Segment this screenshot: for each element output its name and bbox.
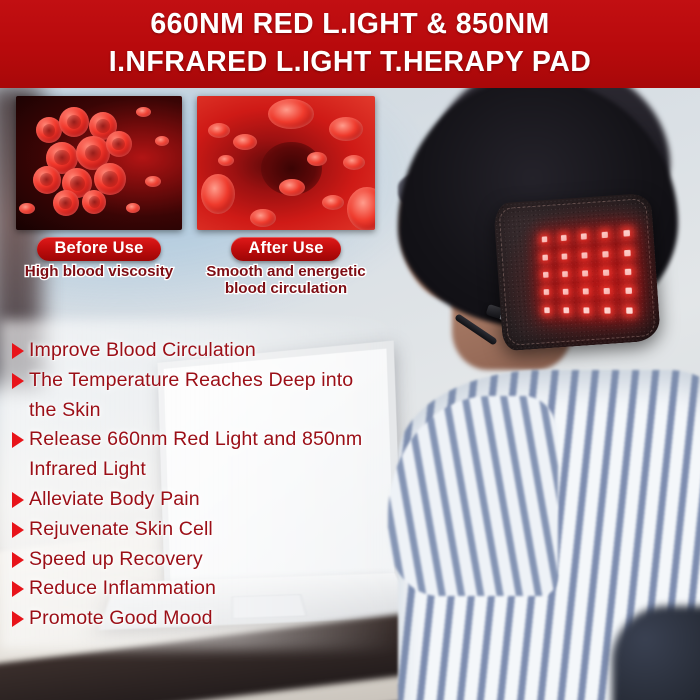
neck-therapy-pad: [493, 193, 661, 352]
before-use-badge: Before Use: [37, 237, 160, 261]
after-use-caption-line-1: Smooth and energetic: [197, 263, 375, 280]
led-light: [604, 288, 610, 294]
benefit-item: Alleviate Body Pain: [12, 485, 392, 514]
led-light: [543, 290, 549, 296]
benefit-item: Rejuvenate Skin Cell: [12, 515, 392, 544]
before-after-comparison: Before Use High blood viscosity: [0, 96, 390, 296]
led-light: [602, 251, 608, 257]
benefit-label: Reduce Inflammation: [29, 574, 216, 603]
banner-title-line-1: 660NM RED L.IGHT & 850NM: [150, 6, 549, 44]
led-light: [626, 288, 633, 294]
benefit-label: Promote Good Mood: [29, 604, 213, 633]
benefit-item: The Temperature Reaches Deep into: [12, 366, 392, 395]
benefit-label: Infrared Light: [29, 455, 146, 484]
led-light: [624, 249, 631, 256]
led-light: [543, 272, 549, 278]
before-use-caption: High blood viscosity: [16, 263, 182, 280]
led-light: [581, 252, 587, 258]
led-light: [583, 307, 589, 313]
banner-title-line-2: I.NFRARED L.IGHT T.HERAPY PAD: [109, 44, 591, 82]
led-light: [562, 271, 568, 277]
led-light: [542, 254, 548, 260]
led-light: [603, 269, 609, 275]
benefit-label: Release 660nm Red Light and 850nm: [29, 425, 362, 454]
benefit-item: Speed up Recovery: [12, 545, 392, 574]
led-light: [624, 230, 631, 237]
triangle-bullet-icon: [12, 373, 24, 389]
benefit-label: Improve Blood Circulation: [29, 336, 256, 365]
benefit-label: Speed up Recovery: [29, 545, 203, 574]
benefit-label: Rejuvenate Skin Cell: [29, 515, 213, 544]
benefit-item: Promote Good Mood: [12, 604, 392, 633]
after-blood-image: [197, 96, 375, 230]
triangle-bullet-icon: [12, 522, 24, 538]
led-light: [582, 270, 588, 276]
before-blood-image: [16, 96, 182, 230]
benefits-list: Improve Blood Circulation The Temperatur…: [12, 336, 392, 634]
led-light: [583, 289, 589, 295]
led-light: [602, 232, 608, 239]
triangle-bullet-icon: [12, 552, 24, 568]
led-light: [563, 307, 569, 313]
led-light: [581, 233, 587, 239]
led-light: [544, 307, 550, 313]
led-light: [625, 269, 632, 275]
benefit-item: Reduce Inflammation: [12, 574, 392, 603]
triangle-bullet-icon: [12, 492, 24, 508]
led-light: [604, 307, 610, 313]
benefit-item: Improve Blood Circulation: [12, 336, 392, 365]
before-use-block: Before Use High blood viscosity: [16, 96, 182, 280]
led-light: [561, 253, 567, 259]
after-use-caption-line-2: blood circulation: [197, 280, 375, 297]
led-light: [563, 289, 569, 295]
triangle-bullet-icon: [12, 581, 24, 597]
triangle-bullet-icon: [12, 611, 24, 627]
led-light-grid: [534, 223, 641, 320]
product-marketing-image: 660NM RED L.IGHT & 850NM I.NFRARED L.IGH…: [0, 0, 700, 700]
benefit-label: the Skin: [29, 396, 101, 425]
benefit-label: Alleviate Body Pain: [29, 485, 200, 514]
triangle-bullet-icon: [12, 343, 24, 359]
benefit-item-continuation: the Skin: [12, 396, 392, 425]
benefit-item: Release 660nm Red Light and 850nm: [12, 425, 392, 454]
triangle-bullet-icon: [12, 432, 24, 448]
led-light: [541, 237, 547, 243]
benefit-label: The Temperature Reaches Deep into: [29, 366, 353, 395]
led-light: [626, 307, 633, 313]
after-use-badge: After Use: [231, 237, 340, 261]
after-use-block: After Use Smooth and energetic blood cir…: [197, 96, 375, 297]
benefit-item-continuation: Infrared Light: [12, 455, 392, 484]
title-banner: 660NM RED L.IGHT & 850NM I.NFRARED L.IGH…: [0, 0, 700, 88]
led-light: [561, 235, 567, 241]
